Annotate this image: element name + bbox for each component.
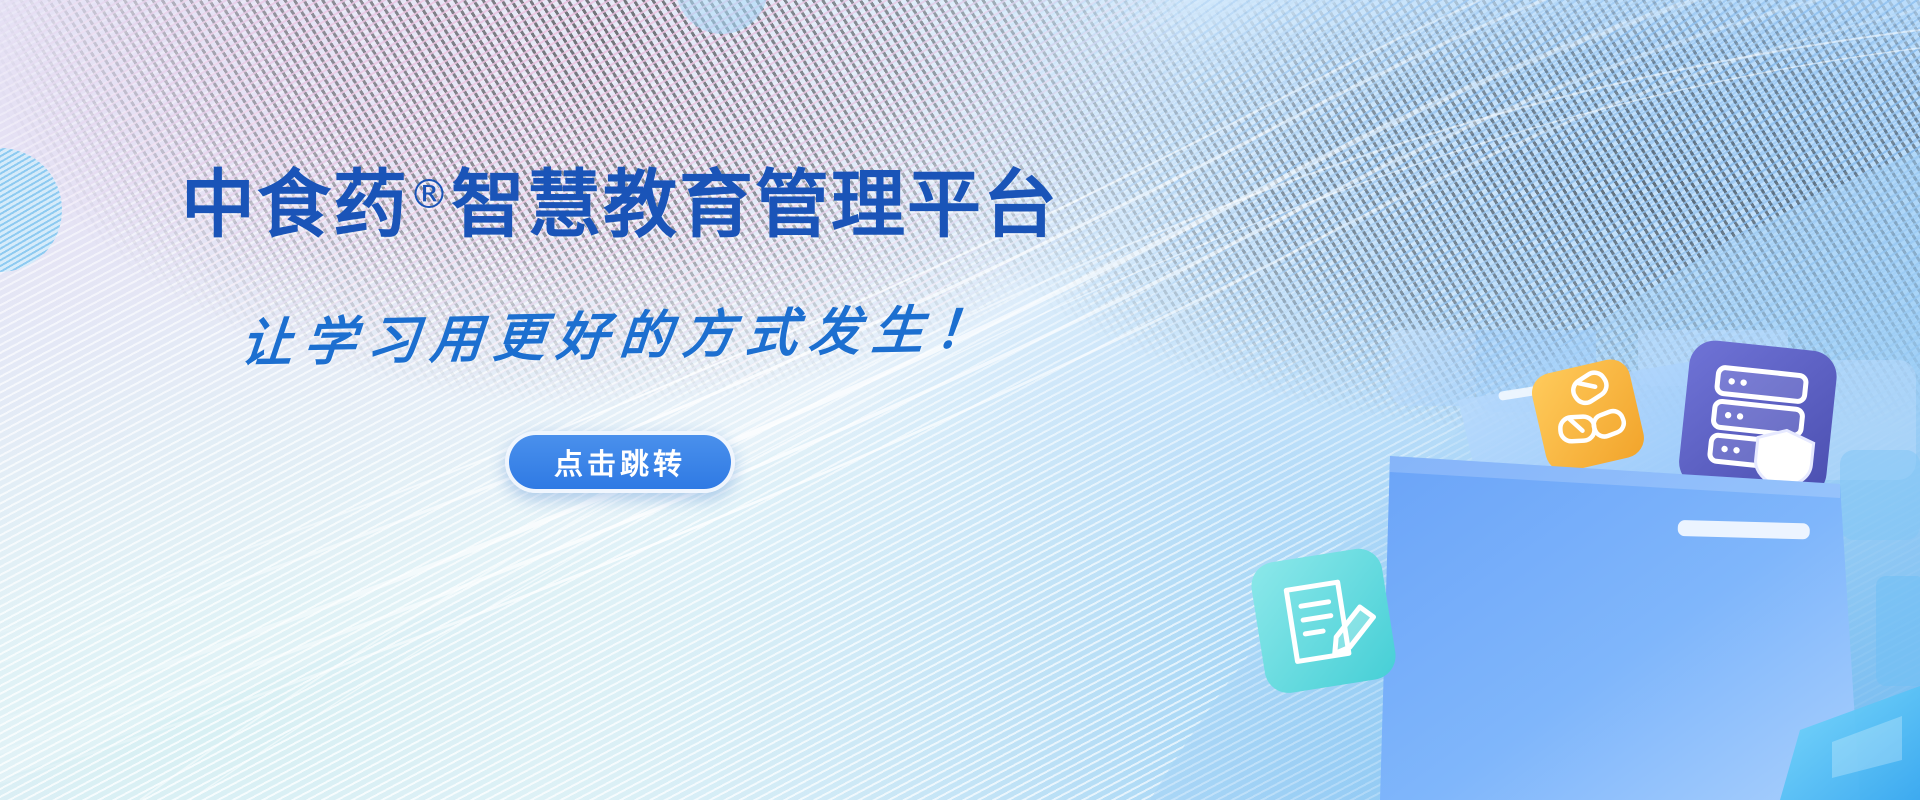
screen-panel-shape (1380, 456, 1860, 800)
hero-content: 中食药®智慧教育管理平台 让学习用更好的方式发生！ 点击跳转 (0, 0, 1240, 800)
cta-wrapper: 点击跳转 (505, 431, 735, 493)
document-pen-icon (1248, 545, 1399, 696)
registered-trademark-icon: ® (409, 172, 451, 218)
hero-banner: 中食药®智慧教育管理平台 让学习用更好的方式发生！ 点击跳转 (0, 0, 1920, 800)
page-title-rest: 智慧教育管理平台 (451, 162, 1059, 248)
page-title-main: 中食药 (181, 162, 409, 248)
jump-button[interactable]: 点击跳转 (505, 431, 735, 493)
page-title: 中食药®智慧教育管理平台 (181, 168, 1059, 242)
page-subtitle: 让学习用更好的方式发生！ (238, 287, 1002, 376)
hero-illustration (1240, 330, 1920, 800)
side-accent-bar (1876, 576, 1920, 686)
